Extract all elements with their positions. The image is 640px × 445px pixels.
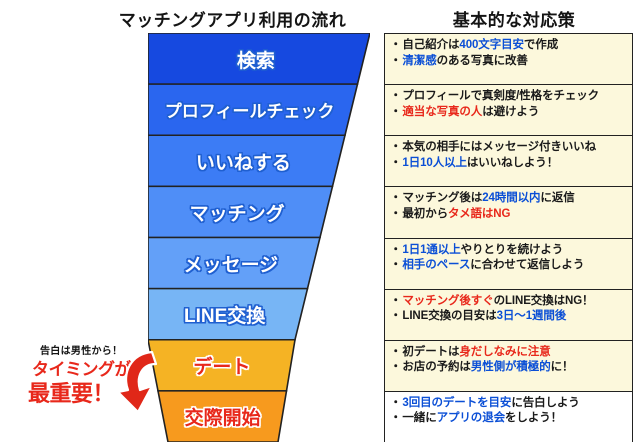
funnel-segment: [148, 238, 320, 289]
tip-text-segment: アプリの退会: [437, 412, 505, 424]
tip-text-segment: のLINE交換はNG！: [494, 295, 594, 307]
tip-text-segment: マッチング後すぐ: [402, 295, 493, 307]
tip-text-segment: 初デートは: [402, 346, 459, 358]
tip-row: ・プロフィールで真剣度/性格をチェック・適当な写真の人は避けよう: [385, 85, 632, 136]
bullet-icon: ・: [390, 361, 401, 373]
header-funnel-title: マッチングアプリ利用の流れ: [90, 6, 375, 31]
bullet-icon: ・: [390, 106, 401, 118]
bullet-icon: ・: [390, 412, 401, 424]
tip-text-segment: マッチング後は: [402, 192, 482, 204]
bullet-icon: ・: [390, 310, 401, 322]
bullet-icon: ・: [390, 55, 401, 67]
tip-row: ・3回目のデートを目安に告白しよう・一緒にアプリの退会をしよう！: [385, 392, 632, 443]
tip-line: ・適当な写真の人は避けよう: [390, 105, 630, 121]
bullet-icon: ・: [390, 397, 401, 409]
tip-line: ・本気の相手にはメッセージ付きいいね: [390, 140, 630, 156]
header-tips-title: 基本的な対応策: [398, 6, 630, 31]
tip-row: ・本気の相手にはメッセージ付きいいね・1日10人以上はいいねしよう！: [385, 136, 632, 187]
infographic-root: マッチングアプリ利用の流れ 基本的な対応策 検索プロフィールチェックいいねするマ…: [0, 0, 640, 445]
tip-line: ・お店の予約は男性側が積極的に！: [390, 360, 630, 376]
tip-text-segment: 3日〜1週間後: [497, 310, 567, 322]
curved-arrow-icon: [108, 348, 178, 420]
tip-text-segment: に告白しよう: [511, 397, 579, 409]
tip-text-segment: タメ語はNG: [448, 208, 510, 220]
tip-row: ・マッチング後すぐのLINE交換はNG！・LINE交換の目安は3日〜1週間後: [385, 290, 632, 341]
tip-line: ・自己紹介は400文字目安で作成: [390, 38, 630, 54]
tip-text-segment: 本気の相手にはメッセージ付きいいね: [402, 141, 596, 153]
tip-line: ・一緒にアプリの退会をしよう！: [390, 411, 630, 427]
tip-row: ・1日1通以上やりとりを続けよう・相手のペースに合わせて返信しよう: [385, 239, 632, 290]
tip-text-segment: プロフィールで真剣度/性格をチェック: [402, 90, 599, 102]
tip-text-segment: 適当な写真の人: [402, 106, 482, 118]
bullet-icon: ・: [390, 39, 401, 51]
bullet-icon: ・: [390, 90, 401, 102]
tip-text-segment: お店の予約は: [402, 361, 470, 373]
tip-text-segment: 相手のペース: [402, 259, 470, 271]
tip-line: ・LINE交換の目安は3日〜1週間後: [390, 309, 630, 325]
tip-line: ・1日1通以上やりとりを続けよう: [390, 243, 630, 259]
tip-text-segment: をしよう！: [505, 412, 562, 424]
tip-text-segment: に！: [551, 361, 574, 373]
bullet-icon: ・: [390, 141, 401, 153]
tip-text-segment: は避けよう: [482, 106, 539, 118]
tip-line: ・1日10人以上はいいねしよう！: [390, 156, 630, 172]
tip-text-segment: 24時間以内: [482, 192, 540, 204]
bullet-icon: ・: [390, 295, 401, 307]
tip-text-segment: 清潔感: [402, 55, 436, 67]
funnel-shapes: [148, 33, 370, 442]
tip-row: ・マッチング後は24時間以内に返信・最初からタメ語はNG: [385, 187, 632, 238]
tip-line: ・相手のペースに合わせて返信しよう: [390, 258, 630, 274]
tip-text-segment: やりとりを続けよう: [461, 244, 564, 256]
tip-text-segment: 3回目のデートを目安: [402, 397, 511, 409]
tip-text-segment: はいいねしよう！: [467, 157, 558, 169]
tip-text-segment: で作成: [524, 39, 558, 51]
tip-text-segment: のある写真に改善: [437, 55, 528, 67]
tip-text-segment: 400文字目安: [459, 39, 524, 51]
annotation-line2: 最重要！: [28, 376, 114, 408]
tip-text-segment: 男性側が積極的: [471, 361, 551, 373]
tip-text-segment: に返信: [540, 192, 574, 204]
tips-panel: ・自己紹介は400文字目安で作成・清潔感のある写真に改善・プロフィールで真剣度/…: [384, 33, 633, 442]
tip-line: ・清潔感のある写真に改善: [390, 54, 630, 70]
bullet-icon: ・: [390, 244, 401, 256]
funnel-segment: [148, 135, 345, 186]
funnel-segment: [148, 186, 333, 237]
tip-line: ・マッチング後は24時間以内に返信: [390, 191, 630, 207]
tip-text-segment: 1日10人以上: [402, 157, 467, 169]
bullet-icon: ・: [390, 259, 401, 271]
tip-line: ・最初からタメ語はNG: [390, 207, 630, 223]
funnel-segment: [148, 289, 308, 340]
tip-line: ・初デートは身だしなみに注意: [390, 345, 630, 361]
bullet-icon: ・: [390, 157, 401, 169]
bullet-icon: ・: [390, 192, 401, 204]
tip-text-segment: 最初から: [402, 208, 448, 220]
bullet-icon: ・: [390, 208, 401, 220]
tip-text-segment: 自己紹介は: [402, 39, 459, 51]
tip-line: ・3回目のデートを目安に告白しよう: [390, 396, 630, 412]
tip-text-segment: 1日1通以上: [402, 244, 460, 256]
tip-text-segment: に合わせて返信しよう: [470, 259, 584, 271]
tip-line: ・プロフィールで真剣度/性格をチェック: [390, 89, 630, 105]
tip-text-segment: 身だしなみに注意: [459, 346, 550, 358]
tip-row: ・自己紹介は400文字目安で作成・清潔感のある写真に改善: [385, 34, 632, 85]
tip-text-segment: LINE交換の目安は: [402, 310, 496, 322]
funnel-segment: [148, 33, 370, 84]
tip-line: ・マッチング後すぐのLINE交換はNG！: [390, 294, 630, 310]
tip-text-segment: 一緒に: [402, 412, 436, 424]
funnel-segment: [148, 84, 358, 135]
tip-row: ・初デートは身だしなみに注意・お店の予約は男性側が積極的に！: [385, 341, 632, 392]
bullet-icon: ・: [390, 346, 401, 358]
funnel-chart: 検索プロフィールチェックいいねするマッチングメッセージLINE交換デート交際開始: [148, 33, 370, 442]
